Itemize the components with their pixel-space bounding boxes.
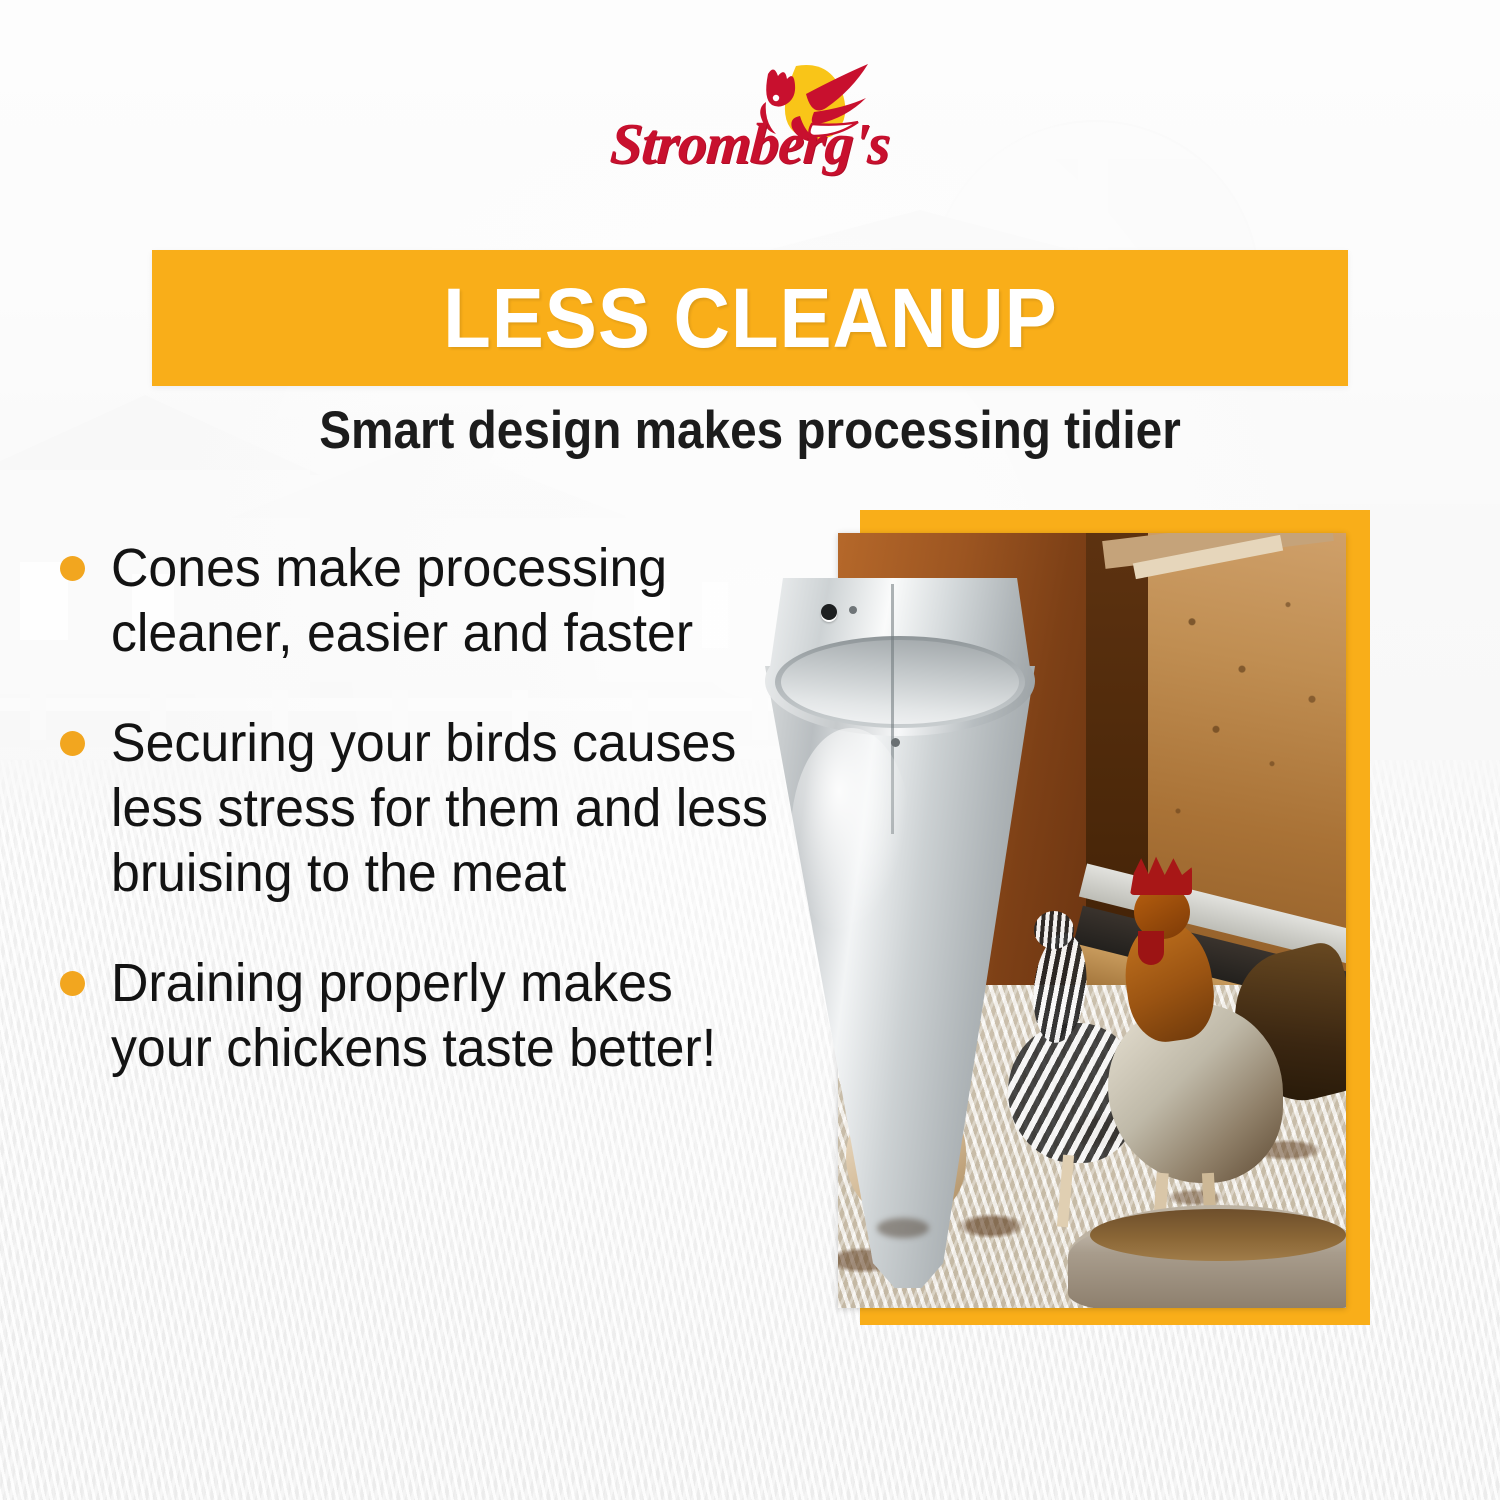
- cone-highlight: [791, 728, 911, 938]
- list-item: Securing your birds causes less stress f…: [60, 711, 800, 907]
- photo-feed-bowl-interior: [1090, 1209, 1346, 1261]
- list-item-label: Securing your birds causes less stress f…: [111, 711, 772, 907]
- list-item: Cones make processing cleaner, easier an…: [60, 536, 800, 667]
- cone-body: [765, 666, 1035, 1288]
- photo-rooster-wattle: [1138, 931, 1164, 965]
- list-item-label: Draining properly makes your chickens ta…: [111, 951, 772, 1082]
- cone-mounting-hole: [821, 604, 837, 620]
- cone-rivet: [849, 606, 857, 614]
- cone-interior: [781, 640, 1019, 724]
- headline-title: LESS CLEANUP: [443, 276, 1057, 360]
- bullet-dot-icon: [60, 556, 85, 581]
- poster-canvas: Stromberg's LESS CLEANUP Smart design ma…: [0, 0, 1500, 1500]
- list-item: Draining properly makes your chickens ta…: [60, 951, 800, 1082]
- benefits-list: Cones make processing cleaner, easier an…: [60, 536, 800, 1125]
- product-killing-cone: [765, 578, 1035, 1288]
- bullet-dot-icon: [60, 731, 85, 756]
- list-item-label: Cones make processing cleaner, easier an…: [111, 536, 772, 667]
- bullet-dot-icon: [60, 971, 85, 996]
- photo-barred-hen-head: [1034, 911, 1074, 949]
- headline-banner: LESS CLEANUP: [152, 250, 1348, 386]
- subtitle: Smart design makes processing tidier: [75, 400, 1425, 461]
- cone-rivet: [891, 738, 900, 747]
- brand-logo: Stromberg's: [600, 58, 900, 180]
- brand-wordmark: Stromberg's: [598, 110, 903, 177]
- cone-tip-shadow: [877, 1218, 929, 1238]
